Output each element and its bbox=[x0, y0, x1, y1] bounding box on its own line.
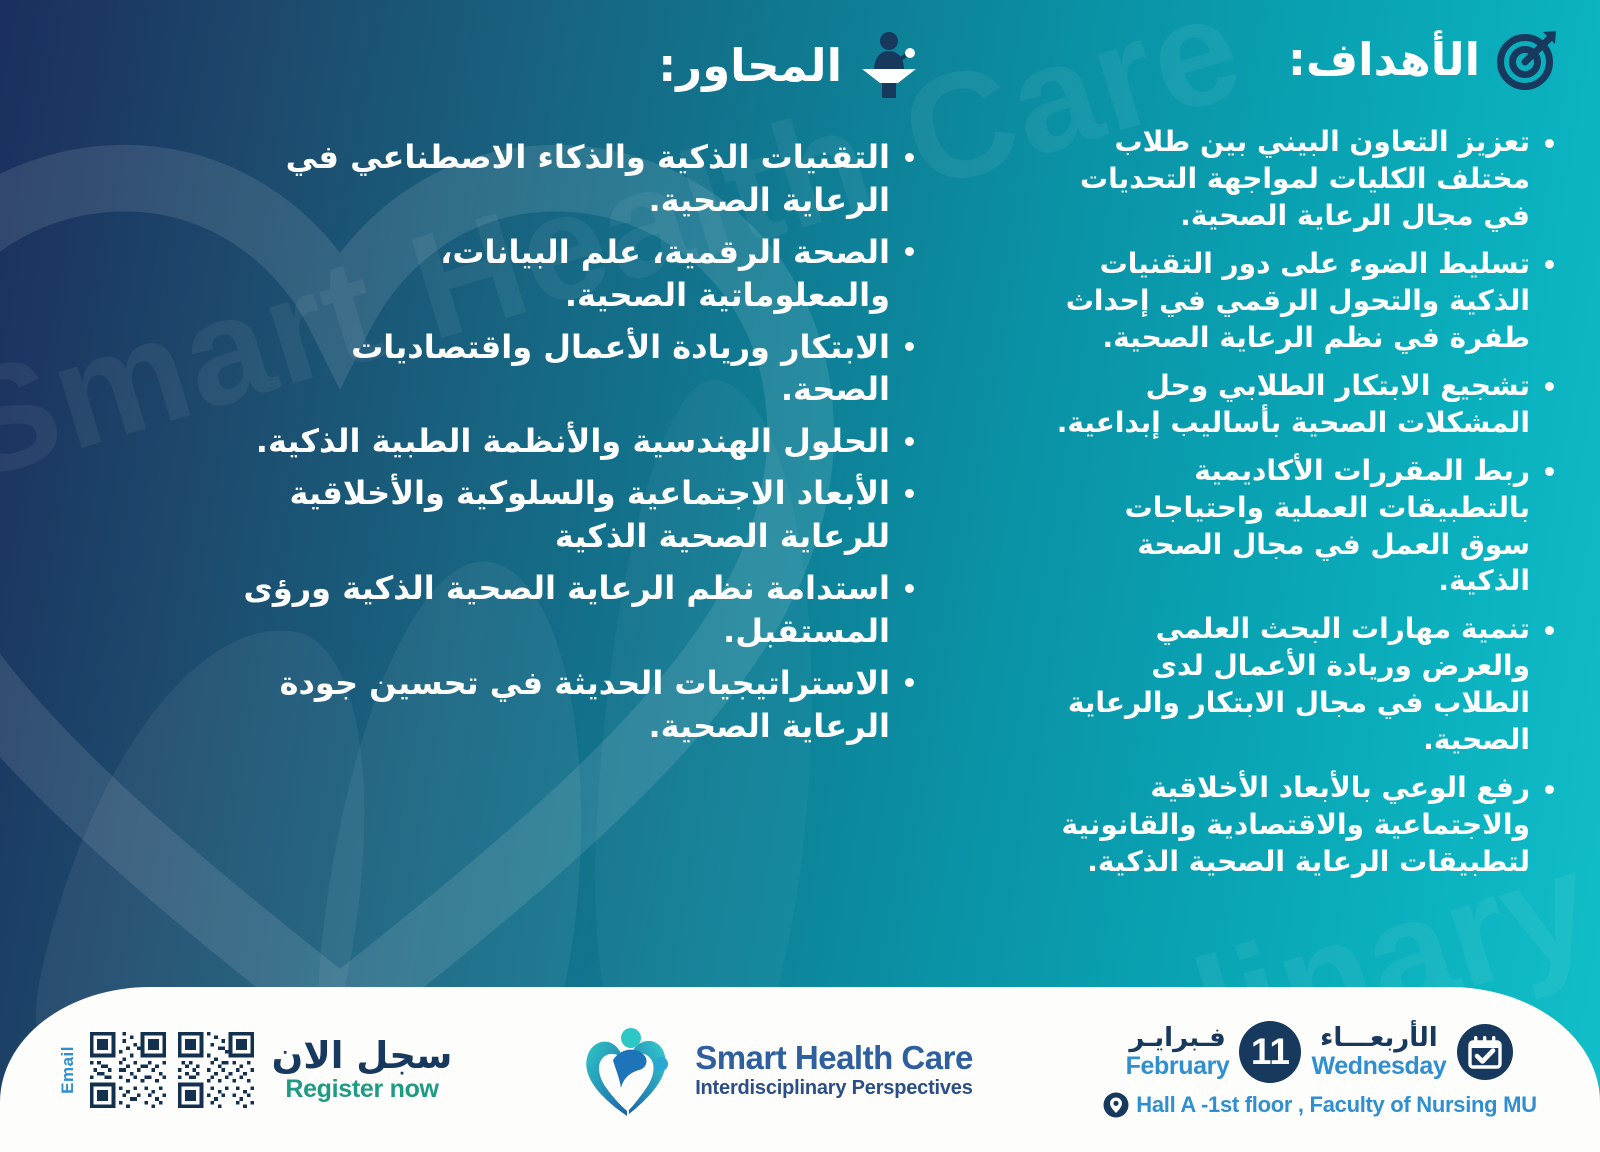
brand-subtitle: Interdisciplinary Perspectives bbox=[695, 1078, 973, 1098]
brand-logo-section: Smart Health Care Interdisciplinary Pers… bbox=[490, 1020, 1060, 1120]
themes-list-item: الصحة الرقمية، علم البيانات، والمعلوماتي… bbox=[240, 231, 920, 317]
event-day-ar: الأربعـــاء bbox=[1320, 1025, 1438, 1051]
event-venue-row: Hall A -1st floor , Faculty of Nursing M… bbox=[1103, 1092, 1536, 1118]
themes-list-item: الحلول الهندسية والأنظمة الطبية الذكية. bbox=[240, 420, 920, 463]
location-pin-icon bbox=[1103, 1092, 1129, 1118]
event-venue-text: Hall A -1st floor , Faculty of Nursing M… bbox=[1136, 1092, 1536, 1118]
objectives-list: تعزيز التعاون البيني بين طلاب مختلف الكل… bbox=[1050, 124, 1560, 881]
registration-qr-code[interactable] bbox=[178, 1032, 254, 1108]
themes-list-item: التقنيات الذكية والذكاء الاصطناعي في الر… bbox=[240, 136, 920, 222]
poster-columns: الأهداف: تعزيز التعاون البيني بين طلاب م… bbox=[0, 0, 1600, 1152]
objectives-list-item: تسليط الضوء على دور التقنيات الذكية والت… bbox=[1050, 246, 1560, 357]
event-day-en: Wednesday bbox=[1311, 1054, 1446, 1079]
event-details-section: الأربعـــاء Wednesday 11 فـبرايـر Februa… bbox=[1060, 1021, 1600, 1118]
brand-title: Smart Health Care bbox=[695, 1041, 973, 1074]
event-month-en: February bbox=[1126, 1054, 1230, 1079]
objectives-list-item: تشجيع الابتكار الطلابي وحل المشكلات الصح… bbox=[1050, 368, 1560, 442]
objectives-heading: الأهداف: bbox=[1050, 28, 1560, 90]
email-qr-code[interactable] bbox=[90, 1032, 166, 1108]
themes-list-item: الابتكار وريادة الأعمال واقتصاديات الصحة… bbox=[240, 326, 920, 412]
register-label-en: Register now bbox=[285, 1077, 438, 1102]
email-label: Email bbox=[58, 1046, 78, 1094]
themes-list-item: استدامة نظم الرعاية الصحية الذكية ورؤى ا… bbox=[240, 567, 920, 653]
conference-poster: Smart Health Care Interdisciplinary Pers… bbox=[0, 0, 1600, 1152]
event-date-row: الأربعـــاء Wednesday 11 فـبرايـر Februa… bbox=[1126, 1021, 1515, 1083]
objectives-list-item: تنمية مهارات البحث العلمي والعرض وريادة … bbox=[1050, 611, 1560, 759]
register-label-ar: سجل الان bbox=[272, 1037, 453, 1074]
themes-list: التقنيات الذكية والذكاء الاصطناعي في الر… bbox=[240, 136, 920, 747]
objectives-column: الأهداف: تعزيز التعاون البيني بين طلاب م… bbox=[980, 0, 1600, 1152]
speaker-podium-icon bbox=[858, 28, 920, 102]
event-day: الأربعـــاء Wednesday bbox=[1311, 1025, 1446, 1079]
themes-heading: المحاور: bbox=[240, 28, 920, 102]
objectives-heading-text: الأهداف: bbox=[1288, 37, 1480, 82]
poster-footer: Email bbox=[0, 987, 1600, 1152]
calendar-check-icon bbox=[1456, 1023, 1514, 1081]
objectives-list-item: ربط المقررات الأكاديمية بالتطبيقات العمل… bbox=[1050, 453, 1560, 601]
objectives-list-item: تعزيز التعاون البيني بين طلاب مختلف الكل… bbox=[1050, 124, 1560, 235]
event-month-ar: فـبرايـر bbox=[1129, 1025, 1225, 1051]
event-month: فـبرايـر February bbox=[1126, 1025, 1230, 1079]
registration-section: Email bbox=[0, 1032, 490, 1108]
themes-heading-text: المحاور: bbox=[658, 43, 842, 88]
smart-health-care-logo-icon bbox=[577, 1020, 681, 1120]
target-icon bbox=[1496, 28, 1560, 90]
brand-wordmark: Smart Health Care Interdisciplinary Pers… bbox=[695, 1041, 973, 1098]
themes-list-item: الاستراتيجيات الحديثة في تحسين جودة الرع… bbox=[240, 662, 920, 748]
themes-column: المحاور: التقنيات الذكية والذكاء الاصطنا… bbox=[180, 0, 980, 1152]
event-day-number: 11 bbox=[1239, 1021, 1301, 1083]
left-margin-spacer bbox=[0, 0, 180, 1152]
objectives-list-item: رفع الوعي بالأبعاد الأخلاقية والاجتماعية… bbox=[1050, 770, 1560, 881]
register-cta[interactable]: سجل الان Register now bbox=[272, 1037, 453, 1102]
themes-list-item: الأبعاد الاجتماعية والسلوكية والأخلاقية … bbox=[240, 472, 920, 558]
